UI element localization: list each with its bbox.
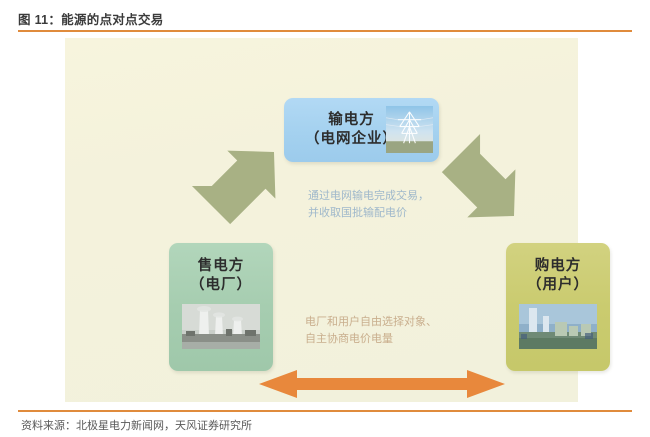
node-seller-line1: 售电方 bbox=[198, 257, 245, 276]
node-transmitter-line2: （电网企业） bbox=[305, 130, 398, 149]
caption-transmission-line1: 通过电网输电完成交易， bbox=[308, 188, 429, 205]
diagram-panel: 输电方 （电网企业） bbox=[65, 38, 578, 402]
power-transmission-tower-photo bbox=[386, 106, 433, 153]
figure-title: 图 11：能源的点对点交易 bbox=[18, 9, 164, 28]
arrow-seller-buyer-bidirectional-icon bbox=[257, 370, 507, 412]
arrow-transmitter-to-buyer-icon bbox=[445, 144, 535, 234]
figure-container: 图 11：能源的点对点交易 输电方 （电网企业） bbox=[0, 0, 650, 437]
node-buyer[interactable]: 购电方 （用户） bbox=[506, 243, 610, 371]
node-seller-line2: （电厂） bbox=[190, 276, 252, 295]
node-transmitter-labels: 输电方 （电网企业） bbox=[305, 111, 398, 148]
caption-negotiation: 电厂和用户自由选择对象、 自主协商电价电量 bbox=[305, 314, 437, 348]
node-buyer-line2: （用户） bbox=[527, 276, 589, 295]
arrow-seller-to-transmitter-icon bbox=[205, 138, 295, 228]
caption-transmission-line2: 并收取国批输配电价 bbox=[308, 205, 429, 222]
industrial-user-facility-photo bbox=[519, 304, 597, 349]
node-seller[interactable]: 售电方 （电厂） bbox=[169, 243, 273, 371]
title-divider bbox=[18, 30, 632, 32]
node-seller-labels: 售电方 （电厂） bbox=[190, 257, 252, 294]
node-buyer-labels: 购电方 （用户） bbox=[527, 257, 589, 294]
footer-divider bbox=[18, 410, 632, 412]
caption-negotiation-line2: 自主协商电价电量 bbox=[305, 331, 437, 348]
figure-source: 资料来源：北极星电力新闻网，天风证券研究所 bbox=[21, 417, 252, 433]
caption-negotiation-line1: 电厂和用户自由选择对象、 bbox=[305, 314, 437, 331]
node-transmitter-line1: 输电方 bbox=[328, 111, 375, 130]
node-transmitter[interactable]: 输电方 （电网企业） bbox=[284, 98, 439, 162]
caption-transmission: 通过电网输电完成交易， 并收取国批输配电价 bbox=[308, 188, 429, 222]
node-buyer-line1: 购电方 bbox=[535, 257, 582, 276]
power-plant-photo bbox=[182, 304, 260, 349]
